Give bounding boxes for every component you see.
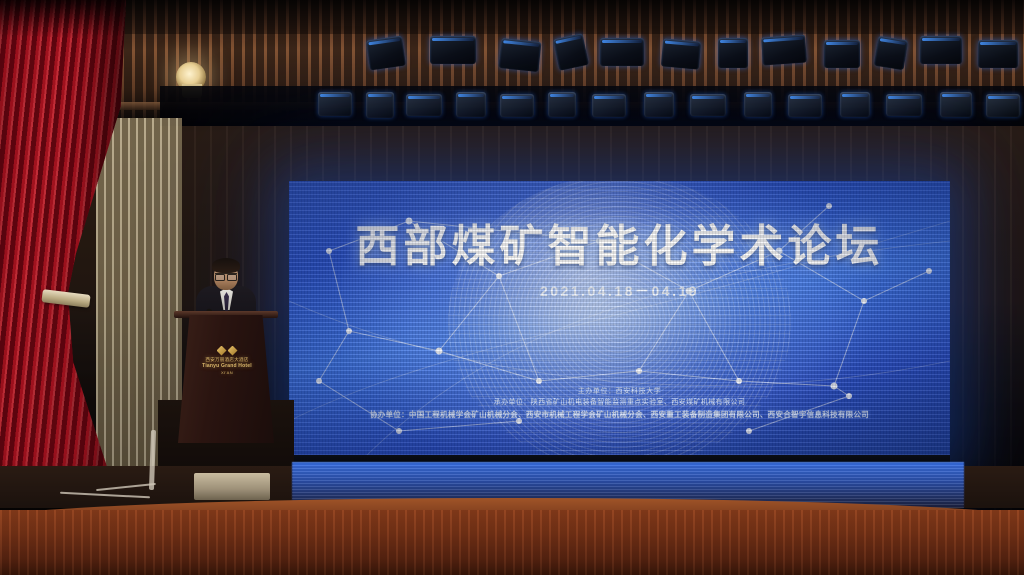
stage-light-icon (886, 94, 922, 116)
speaking-podium (178, 315, 274, 443)
speaker-hair (212, 258, 240, 273)
stage-light-icon (661, 38, 701, 69)
podium-name-en: Tianyu Grand Hotel (186, 363, 268, 370)
credit-line-organizer: 承办单位：陕西省矿山机电装备智能监测重点实验室、西安煤矿机械有限公司 (494, 399, 746, 408)
screen-content: 西部煤矿智能化学术论坛 2021.04.18－04.19 主办单位：西安科技大学… (289, 181, 950, 463)
stage-light-icon (499, 38, 542, 72)
stage-light-icon (500, 94, 534, 117)
stage-light-icon (644, 92, 674, 117)
stage-light-icon (456, 92, 486, 117)
stage-light-icon (920, 36, 962, 64)
podium-emblem-icon (210, 345, 244, 356)
emblem-diamond-left (217, 346, 227, 356)
led-screen-surface: 西部煤矿智能化学术论坛 2021.04.18－04.19 主办单位：西安科技大学… (289, 181, 950, 463)
stage-light-icon (824, 40, 860, 68)
stage-photo-scene: 西部煤矿智能化学术论坛 2021.04.18－04.19 主办单位：西安科技大学… (0, 0, 1024, 575)
stage-apron (0, 510, 1024, 575)
stage-light-icon (553, 33, 589, 71)
organizer-credits: 主办单位：西安科技大学 承办单位：陕西省矿山机电装备智能监测重点实验室、西安煤矿… (289, 388, 950, 419)
stage-light-icon (690, 94, 726, 116)
credit-line-cohost: 协办单位：中国工程机械学会矿山机械分会、西安市机械工程学会矿山机械分会、西安重工… (370, 410, 869, 419)
stage-light-icon (366, 92, 394, 118)
stage-light-icon (761, 34, 807, 65)
stage-light-icon (840, 92, 870, 117)
stage-light-icon (600, 38, 644, 66)
stage-light-icon (788, 94, 822, 117)
emblem-diamond-right (228, 346, 238, 356)
eyeglasses-icon (215, 273, 237, 278)
stage-light-icon (718, 38, 748, 68)
podium-nameplate: 西安万丽酒店大酒店 Tianyu Grand Hotel XI'AN (186, 357, 268, 375)
stage-light-icon (874, 36, 908, 70)
curtain-top-shadow (0, 0, 126, 38)
stage-light-icon (986, 94, 1020, 117)
stage-light-icon (744, 92, 772, 117)
event-date: 2021.04.18－04.19 (540, 281, 699, 301)
stage-light-icon (548, 92, 576, 117)
stage-light-icon (430, 36, 476, 64)
led-screen: 西部煤矿智能化学术论坛 2021.04.18－04.19 主办单位：西安科技大学… (289, 181, 950, 463)
podium-name-location: XI'AN (186, 370, 268, 376)
stage-light-icon (978, 40, 1018, 68)
credit-line-host: 主办单位：西安科技大学 (578, 388, 662, 397)
stage-light-icon (592, 94, 626, 117)
stage-equipment-box (194, 473, 270, 500)
stage-light-icon (366, 36, 406, 71)
stage-light-icon (318, 92, 352, 116)
stage-light-icon (406, 94, 442, 116)
stage-light-icon (940, 92, 972, 117)
event-title: 西部煤矿智能化学术论坛 (356, 225, 884, 269)
